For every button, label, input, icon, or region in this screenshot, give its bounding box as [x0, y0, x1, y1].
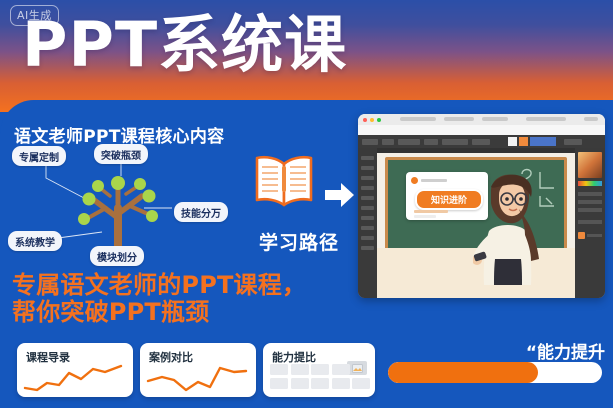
tree-label-skill-split: 技能分万	[174, 202, 228, 222]
grid-cell	[270, 364, 288, 375]
grid-cell	[332, 378, 350, 389]
promo-headline: 专属语文老师的PPT课程， 帮你突破PPT瓶颈	[12, 272, 306, 326]
toolbar-chip-4[interactable]	[424, 139, 438, 145]
titlebar-controls	[584, 117, 598, 121]
page-title: PPT系统课	[22, 10, 347, 80]
window-titlebar	[358, 114, 605, 125]
grid-cell	[332, 364, 350, 375]
toolbar-chip-3[interactable]	[398, 139, 420, 145]
titlebar-tab-3	[482, 117, 508, 121]
line-chart-sparkline	[144, 363, 252, 393]
tree-label-system-teaching: 系统教学	[8, 231, 62, 251]
tree-label-exclusive-custom: 专属定制	[12, 146, 66, 166]
toolbar-chip-6[interactable]	[472, 139, 490, 145]
titlebar-tab-1	[400, 117, 436, 121]
learning-path-block: 学习路径	[243, 152, 355, 264]
open-book-icon	[253, 152, 315, 210]
editor-body: 知识进阶	[358, 148, 605, 298]
toolbar-chip-2[interactable]	[382, 139, 394, 145]
learning-path-label: 学习路径	[243, 228, 355, 255]
slide-text-line-1	[414, 210, 448, 213]
panel-row-3	[578, 208, 602, 212]
swatch-orange[interactable]	[519, 137, 528, 146]
arrow-right-icon	[325, 182, 355, 208]
editor-tool-palette	[358, 148, 377, 298]
toolbar-chip-5[interactable]	[442, 139, 468, 145]
grid-cell	[291, 378, 309, 389]
panel-row-2	[578, 200, 602, 204]
ability-quote-label: “能力提升	[526, 338, 605, 363]
teacher-figure	[473, 173, 543, 285]
window-maximize-dot	[377, 118, 381, 122]
layer-thumb[interactable]	[578, 232, 585, 239]
feature-card-case-compare[interactable]: 案例对比	[140, 343, 256, 397]
header-gradient-band: AI生成 PPT系统课	[0, 0, 613, 112]
canvas-artboard: 知识进阶	[377, 153, 575, 298]
toolbar-chip-1[interactable]	[362, 139, 378, 145]
color-picker-swatch[interactable]	[578, 152, 602, 178]
tree-diagram: 专属定制 突破瓶颈 技能分万 系统教学 模块划分	[6, 146, 242, 262]
layer-name	[587, 234, 602, 237]
swatch-blue[interactable]	[530, 137, 556, 146]
tree-label-break-bottleneck: 突破瓶颈	[94, 144, 148, 164]
grid-cell	[291, 364, 309, 375]
toolbar-chip-7[interactable]	[564, 139, 582, 145]
feature-card-title: 能力提比	[272, 349, 316, 365]
editor-toolbar	[358, 135, 605, 148]
progress-bar-track[interactable]	[388, 362, 602, 383]
course-illustration-window: 知识进阶	[358, 114, 605, 298]
window-close-dot	[363, 118, 367, 122]
swatch-white[interactable]	[508, 137, 517, 146]
slide-logo-dot	[411, 177, 418, 184]
grid-cell	[352, 378, 370, 389]
slide-header-line	[421, 179, 447, 182]
feature-card-ability-compare[interactable]: 能力提比	[263, 343, 375, 397]
tree-label-module-division: 模块划分	[90, 246, 144, 266]
titlebar-tab-4	[526, 117, 566, 121]
editor-panels	[575, 148, 605, 298]
promo-headline-line-2: 帮你突破PPT瓶颈	[12, 299, 306, 326]
poster-root: AI生成 PPT系统课 语文老师PPT课程核心内容	[0, 0, 613, 408]
panel-row-4	[578, 220, 602, 224]
grid-cell	[270, 378, 288, 389]
slide-text-line-2	[414, 215, 436, 218]
feature-card-course-index[interactable]: 课程导录	[17, 343, 133, 397]
window-minimize-dot	[370, 118, 374, 122]
hue-strip[interactable]	[578, 181, 602, 186]
grid-cell	[311, 378, 329, 389]
titlebar-tab-2	[444, 117, 474, 121]
grid-cell	[311, 364, 329, 375]
promo-headline-line-1: 专属语文老师的PPT课程，	[12, 272, 306, 299]
panel-row-1	[578, 192, 602, 196]
progress-bar-fill	[388, 362, 538, 383]
line-chart-sparkline	[21, 363, 129, 393]
placeholder-grid	[270, 364, 370, 389]
